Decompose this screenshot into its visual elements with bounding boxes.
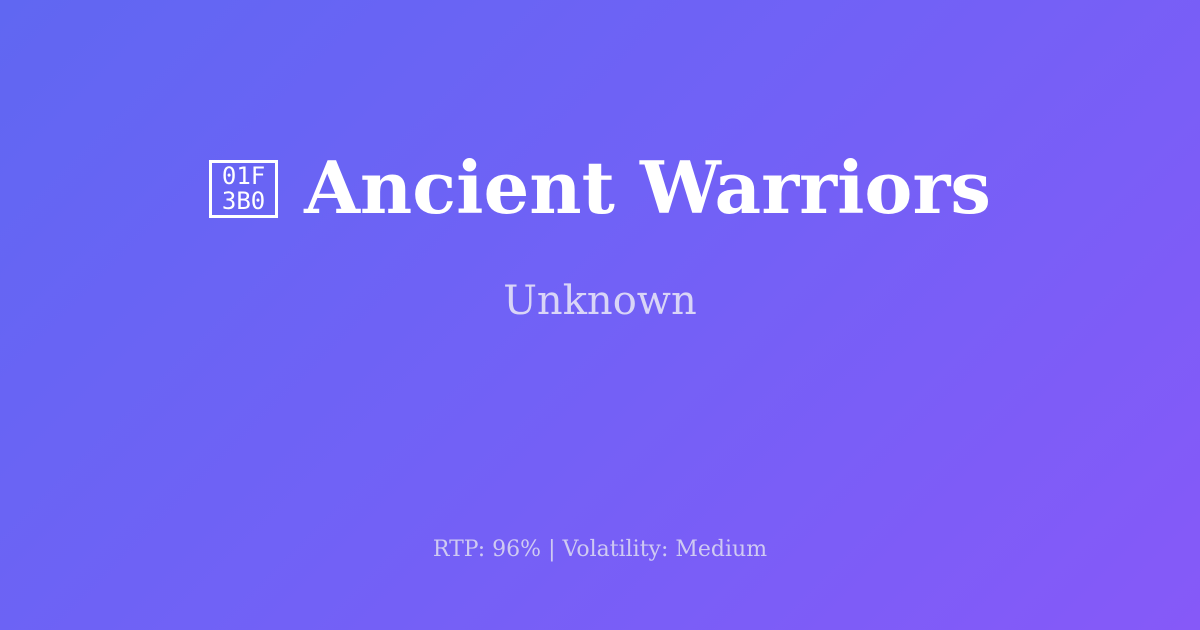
og-share-card: 01F 3B0 Ancient Warriors Unknown RTP: 96… [0,0,1200,630]
game-title: Ancient Warriors [304,145,991,231]
game-meta-footer: RTP: 96% | Volatility: Medium [0,536,1200,564]
slot-machine-icon-codepoint-line2: 3B0 [222,189,265,214]
provider-name: Unknown [503,277,697,325]
slot-machine-icon-codepoint-line1: 01F [222,164,265,189]
card-center-stack: 01F 3B0 Ancient Warriors Unknown [0,0,1200,470]
title-row: 01F 3B0 Ancient Warriors [0,145,1200,231]
slot-machine-icon: 01F 3B0 [209,160,278,218]
